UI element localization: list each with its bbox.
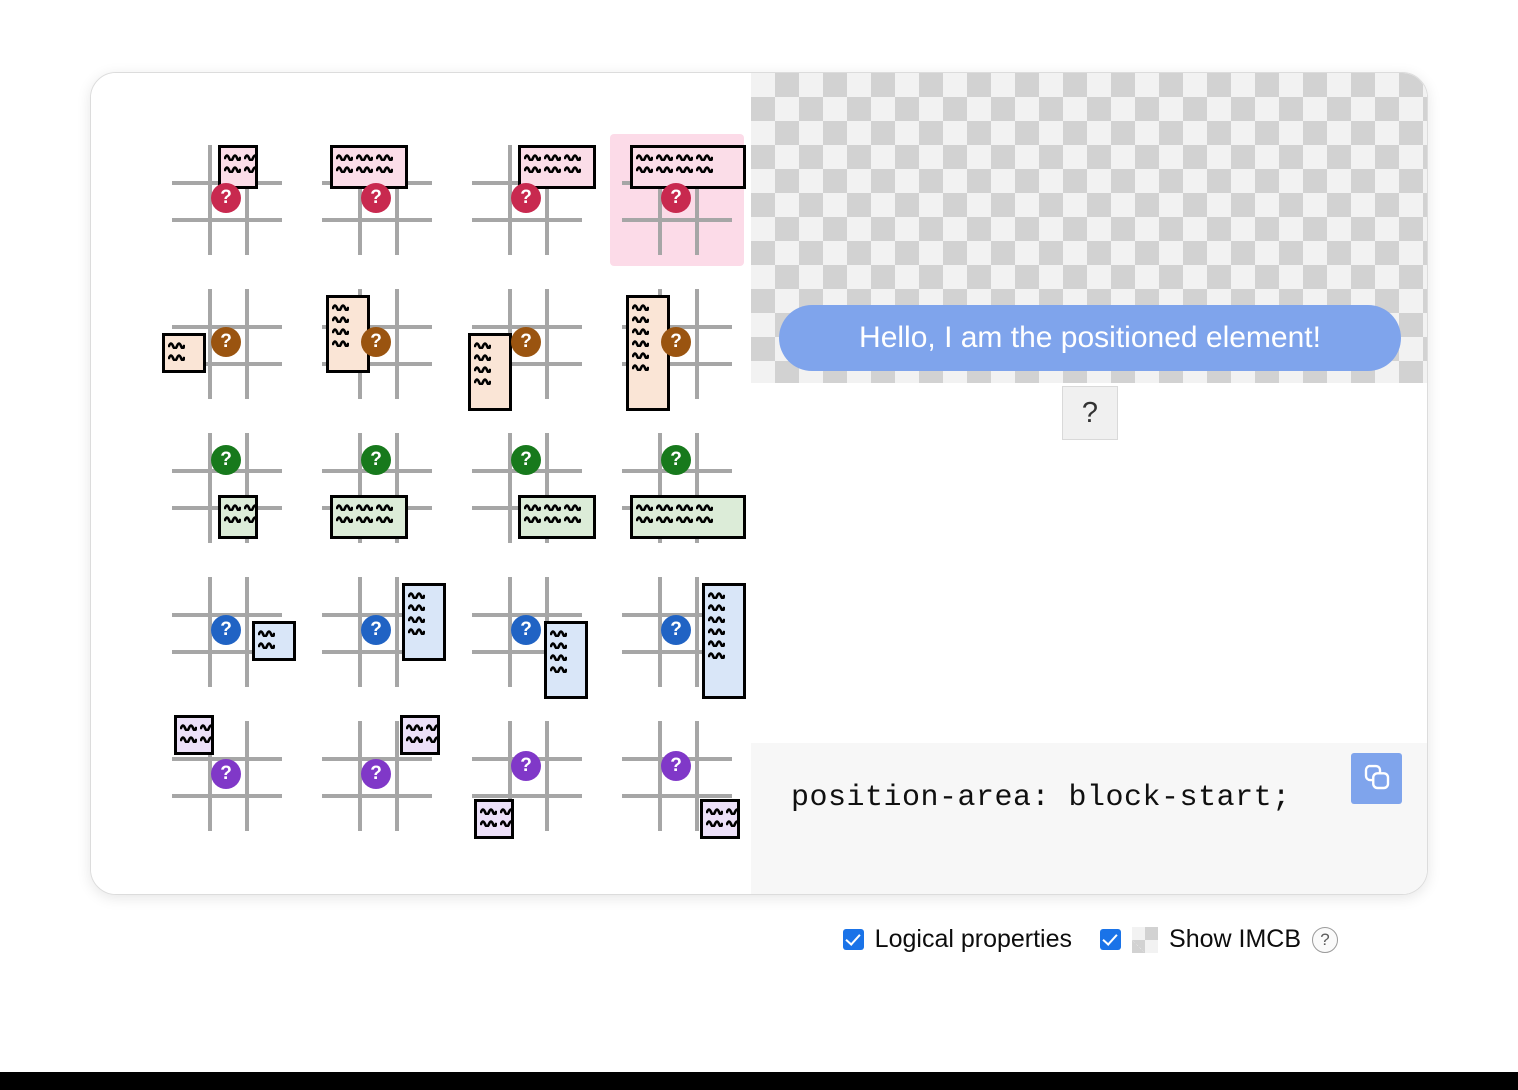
squiggle-row xyxy=(224,514,258,523)
squiggle-glyph xyxy=(200,722,214,731)
squiggle-row xyxy=(336,152,393,161)
squiggle-glyph xyxy=(376,152,393,161)
option-cell-inline-start-1[interactable]: ? xyxy=(161,279,293,409)
help-icon[interactable]: ? xyxy=(1312,927,1338,953)
anchor-dot-icon: ? xyxy=(211,759,241,789)
squiggle-row xyxy=(336,514,393,523)
squiggle-row xyxy=(258,640,275,649)
option-box xyxy=(468,333,512,411)
squiggle-glyph xyxy=(356,502,373,511)
squiggle-row xyxy=(636,502,713,511)
anchor-dot-icon: ? xyxy=(661,751,691,781)
anchor-dot-icon: ? xyxy=(511,327,541,357)
squiggle-glyph xyxy=(168,340,185,349)
squiggle-glyph xyxy=(480,806,497,815)
option-box xyxy=(474,799,514,839)
anchor-dot-icon: ? xyxy=(361,445,391,475)
squiggle-glyph xyxy=(332,326,349,335)
preview-pane: Hello, I am the positioned element! ? po… xyxy=(751,73,1427,894)
footer-controls: Logical properties Show IMCB ? xyxy=(0,925,1428,954)
option-box xyxy=(330,495,408,539)
positioned-element-bubble: Hello, I am the positioned element! xyxy=(779,305,1401,371)
option-cell-block-start-span-all-2[interactable]: ? xyxy=(461,135,593,265)
squiggle-row xyxy=(550,664,567,673)
squiggle-glyph xyxy=(676,152,693,161)
anchor-dot-icon: ? xyxy=(361,183,391,213)
squiggle-row xyxy=(636,514,713,523)
option-cell-inline-start-2[interactable]: ? xyxy=(311,279,443,409)
squiggle-glyph xyxy=(408,626,425,635)
squiggle-glyph xyxy=(356,514,373,523)
show-imcb-label[interactable]: Show IMCB xyxy=(1169,925,1301,954)
app-root: ???????????????????? Hello, I am the pos… xyxy=(0,0,1518,1090)
option-box xyxy=(218,495,258,539)
squiggle-row xyxy=(332,314,349,323)
squiggle-row xyxy=(332,326,349,335)
squiggle-glyph xyxy=(726,806,740,815)
squiggle-row xyxy=(474,340,491,349)
squiggle-glyph xyxy=(168,352,185,361)
option-cell-inline-end-2[interactable]: ? xyxy=(311,567,443,697)
show-imcb-checkbox[interactable] xyxy=(1100,929,1121,950)
option-box xyxy=(174,715,214,755)
squiggle-glyph xyxy=(706,806,723,815)
squiggle-glyph xyxy=(544,514,561,523)
squiggle-glyph xyxy=(376,164,393,173)
squiggle-row xyxy=(632,338,649,347)
squiggle-row xyxy=(480,806,514,815)
squiggle-row xyxy=(406,734,440,743)
copy-icon xyxy=(1362,762,1392,795)
squiggle-row xyxy=(224,164,258,173)
squiggle-row xyxy=(632,326,649,335)
squiggle-glyph xyxy=(524,514,541,523)
squiggle-glyph xyxy=(356,152,373,161)
option-box xyxy=(630,145,746,189)
squiggle-glyph xyxy=(636,514,653,523)
grid-line-h2 xyxy=(472,794,582,798)
visualizer-card: ???????????????????? Hello, I am the pos… xyxy=(90,72,1428,895)
squiggle-glyph xyxy=(524,152,541,161)
anchor-dot-icon: ? xyxy=(361,327,391,357)
option-cell-block-end-2[interactable]: ? xyxy=(311,423,443,553)
squiggle-row xyxy=(524,164,581,173)
squiggle-glyph xyxy=(524,502,541,511)
anchor-element[interactable]: ? xyxy=(1062,386,1118,440)
option-cell-inline-start-3[interactable]: ? xyxy=(461,279,593,409)
squiggle-glyph xyxy=(474,364,491,373)
squiggle-glyph xyxy=(180,734,197,743)
option-box xyxy=(700,799,740,839)
position-area-option-grid: ???????????????????? xyxy=(161,135,743,841)
grid-line-v2 xyxy=(395,577,399,687)
anchor-dot-icon: ? xyxy=(361,759,391,789)
option-box xyxy=(400,715,440,755)
squiggle-row xyxy=(632,362,649,371)
grid-line-h2 xyxy=(622,794,732,798)
squiggle-glyph xyxy=(500,806,514,815)
squiggle-row xyxy=(706,818,740,827)
grid-line-h2 xyxy=(472,218,582,222)
option-cell-inline-end-4[interactable]: ? xyxy=(611,567,743,697)
option-cell-inline-end-3[interactable]: ? xyxy=(461,567,593,697)
squiggle-glyph xyxy=(544,152,561,161)
bottom-strip xyxy=(0,1072,1518,1090)
option-cell-inline-start-4[interactable]: ? xyxy=(611,279,743,409)
squiggle-glyph xyxy=(656,152,673,161)
squiggle-row xyxy=(708,602,725,611)
logical-properties-checkbox[interactable] xyxy=(843,929,864,950)
squiggle-glyph xyxy=(632,362,649,371)
squiggle-glyph xyxy=(474,340,491,349)
grid-line-v2 xyxy=(695,577,699,687)
squiggle-glyph xyxy=(224,502,241,511)
squiggle-row xyxy=(550,640,567,649)
squiggle-glyph xyxy=(636,152,653,161)
grid-line-h2 xyxy=(172,794,282,798)
squiggle-glyph xyxy=(564,502,581,511)
squiggle-row xyxy=(550,628,567,637)
squiggle-glyph xyxy=(408,614,425,623)
option-box xyxy=(630,495,746,539)
squiggle-glyph xyxy=(408,590,425,599)
anchor-dot-icon: ? xyxy=(211,615,241,645)
squiggle-row xyxy=(708,590,725,599)
squiggle-glyph xyxy=(356,164,373,173)
squiggle-row xyxy=(168,340,185,349)
squiggle-glyph xyxy=(244,152,258,161)
option-cell-block-end-4[interactable]: ? xyxy=(611,423,743,553)
squiggle-glyph xyxy=(258,640,275,649)
option-cell-start-start[interactable]: ? xyxy=(161,711,293,841)
anchor-dot-icon: ? xyxy=(211,327,241,357)
squiggle-row xyxy=(524,514,581,523)
squiggle-row xyxy=(706,806,740,815)
squiggle-glyph xyxy=(408,602,425,611)
squiggle-row xyxy=(632,314,649,323)
option-cell-inline-end-1[interactable]: ? xyxy=(161,567,293,697)
squiggle-glyph xyxy=(708,638,725,647)
squiggle-row xyxy=(180,734,214,743)
logical-properties-label[interactable]: Logical properties xyxy=(875,925,1072,954)
squiggle-glyph xyxy=(332,302,349,311)
squiggle-row xyxy=(332,338,349,347)
grid-line-v2 xyxy=(695,721,699,831)
anchor-dot-icon: ? xyxy=(661,615,691,645)
squiggle-glyph xyxy=(336,514,353,523)
squiggle-row xyxy=(336,502,393,511)
squiggle-row xyxy=(408,602,425,611)
squiggle-row xyxy=(332,302,349,311)
squiggle-glyph xyxy=(708,626,725,635)
squiggle-glyph xyxy=(474,376,491,385)
squiggle-glyph xyxy=(564,152,581,161)
anchor-dot-icon: ? xyxy=(511,183,541,213)
option-cell-end-start[interactable]: ? xyxy=(461,711,593,841)
squiggle-glyph xyxy=(406,734,423,743)
squiggle-glyph xyxy=(500,818,514,827)
squiggle-glyph xyxy=(706,818,723,827)
option-box xyxy=(518,495,596,539)
squiggle-glyph xyxy=(258,628,275,637)
squiggle-glyph xyxy=(426,722,440,731)
squiggle-row xyxy=(708,650,725,659)
squiggle-glyph xyxy=(696,514,713,523)
imcb-color-swatch[interactable] xyxy=(1132,927,1158,953)
copy-code-button[interactable] xyxy=(1351,753,1402,804)
squiggle-glyph xyxy=(224,152,241,161)
squiggle-glyph xyxy=(550,628,567,637)
option-box xyxy=(162,333,206,373)
grid-line-h2 xyxy=(622,218,732,222)
squiggle-row xyxy=(708,614,725,623)
squiggle-glyph xyxy=(656,514,673,523)
option-box xyxy=(330,145,408,189)
grid-line-v2 xyxy=(245,721,249,831)
option-cell-end-end[interactable]: ? xyxy=(611,711,743,841)
squiggle-row xyxy=(524,502,581,511)
squiggle-row xyxy=(524,152,581,161)
squiggle-row xyxy=(408,590,425,599)
squiggle-glyph xyxy=(224,164,241,173)
option-box xyxy=(252,621,296,661)
grid-line-v2 xyxy=(395,289,399,399)
squiggle-row xyxy=(708,638,725,647)
option-box xyxy=(702,583,746,699)
grid-line-v2 xyxy=(545,721,549,831)
option-cell-block-start-span-all-3[interactable]: ? xyxy=(611,135,743,265)
grid-line-v1 xyxy=(658,721,662,831)
squiggle-glyph xyxy=(376,514,393,523)
grid-line-h2 xyxy=(322,218,432,222)
option-cell-block-start-span-x[interactable]: ? xyxy=(161,135,293,265)
squiggle-glyph xyxy=(676,502,693,511)
option-box xyxy=(518,145,596,189)
grid-line-v2 xyxy=(545,289,549,399)
anchor-dot-icon: ? xyxy=(361,615,391,645)
squiggle-glyph xyxy=(244,514,258,523)
anchor-dot-icon: ? xyxy=(661,183,691,213)
squiggle-glyph xyxy=(550,664,567,673)
squiggle-row xyxy=(474,376,491,385)
squiggle-row xyxy=(474,364,491,373)
squiggle-row xyxy=(408,626,425,635)
squiggle-glyph xyxy=(474,352,491,361)
option-cell-block-end-3[interactable]: ? xyxy=(461,423,593,553)
squiggle-glyph xyxy=(336,152,353,161)
grid-line-v2 xyxy=(245,577,249,687)
squiggle-glyph xyxy=(708,614,725,623)
squiggle-glyph xyxy=(632,326,649,335)
squiggle-glyph xyxy=(708,602,725,611)
code-panel: position-area: block-start; xyxy=(751,743,1428,895)
squiggle-glyph xyxy=(336,502,353,511)
squiggle-glyph xyxy=(544,502,561,511)
squiggle-glyph xyxy=(376,502,393,511)
option-grid-pane: ???????????????????? xyxy=(91,73,751,894)
squiggle-row xyxy=(168,352,185,361)
squiggle-glyph xyxy=(632,338,649,347)
grid-line-v2 xyxy=(695,289,699,399)
grid-line-v1 xyxy=(208,433,212,543)
squiggle-glyph xyxy=(632,350,649,359)
squiggle-glyph xyxy=(224,514,241,523)
squiggle-glyph xyxy=(426,734,440,743)
squiggle-glyph xyxy=(676,514,693,523)
anchor-dot-icon: ? xyxy=(511,615,541,645)
squiggle-glyph xyxy=(480,818,497,827)
squiggle-glyph xyxy=(676,164,693,173)
anchor-dot-icon: ? xyxy=(661,327,691,357)
anchor-dot-icon: ? xyxy=(511,445,541,475)
anchor-dot-icon: ? xyxy=(511,751,541,781)
squiggle-glyph xyxy=(656,502,673,511)
squiggle-glyph xyxy=(696,152,713,161)
squiggle-row xyxy=(636,164,713,173)
squiggle-row xyxy=(480,818,514,827)
grid-line-v2 xyxy=(395,721,399,831)
squiggle-glyph xyxy=(656,164,673,173)
option-cell-block-start-span-all-1[interactable]: ? xyxy=(311,135,443,265)
grid-line-v1 xyxy=(508,433,512,543)
squiggle-glyph xyxy=(636,502,653,511)
option-box xyxy=(544,621,588,699)
squiggle-glyph xyxy=(708,590,725,599)
squiggle-glyph xyxy=(524,164,541,173)
squiggle-glyph xyxy=(632,302,649,311)
squiggle-glyph xyxy=(544,164,561,173)
squiggle-glyph xyxy=(180,722,197,731)
squiggle-glyph xyxy=(244,164,258,173)
squiggle-row xyxy=(636,152,713,161)
squiggle-glyph xyxy=(336,164,353,173)
squiggle-row xyxy=(224,152,258,161)
option-cell-block-end-1[interactable]: ? xyxy=(161,423,293,553)
squiggle-row xyxy=(258,628,275,637)
squiggle-row xyxy=(550,652,567,661)
squiggle-row xyxy=(406,722,440,731)
option-box xyxy=(626,295,670,411)
squiggle-glyph xyxy=(708,650,725,659)
squiggle-row xyxy=(408,614,425,623)
squiggle-glyph xyxy=(550,640,567,649)
squiggle-glyph xyxy=(696,164,713,173)
squiggle-glyph xyxy=(564,164,581,173)
grid-line-h2 xyxy=(322,794,432,798)
squiggle-row xyxy=(632,350,649,359)
anchor-dot-icon: ? xyxy=(211,445,241,475)
squiggle-glyph xyxy=(636,164,653,173)
squiggle-glyph xyxy=(550,652,567,661)
grid-line-v2 xyxy=(245,289,249,399)
squiggle-glyph xyxy=(696,502,713,511)
squiggle-row xyxy=(632,302,649,311)
squiggle-glyph xyxy=(406,722,423,731)
squiggle-glyph xyxy=(726,818,740,827)
squiggle-row xyxy=(336,164,393,173)
squiggle-glyph xyxy=(200,734,214,743)
squiggle-row xyxy=(180,722,214,731)
squiggle-row xyxy=(474,352,491,361)
anchor-dot-icon: ? xyxy=(661,445,691,475)
squiggle-glyph xyxy=(632,314,649,323)
anchor-dot-icon: ? xyxy=(211,183,241,213)
squiggle-glyph xyxy=(332,338,349,347)
squiggle-row xyxy=(224,502,258,511)
squiggle-row xyxy=(708,626,725,635)
css-declaration-text: position-area: block-start; xyxy=(791,781,1291,815)
grid-line-h2 xyxy=(172,218,282,222)
option-cell-start-end[interactable]: ? xyxy=(311,711,443,841)
squiggle-glyph xyxy=(244,502,258,511)
option-box xyxy=(402,583,446,661)
squiggle-glyph xyxy=(332,314,349,323)
squiggle-glyph xyxy=(564,514,581,523)
